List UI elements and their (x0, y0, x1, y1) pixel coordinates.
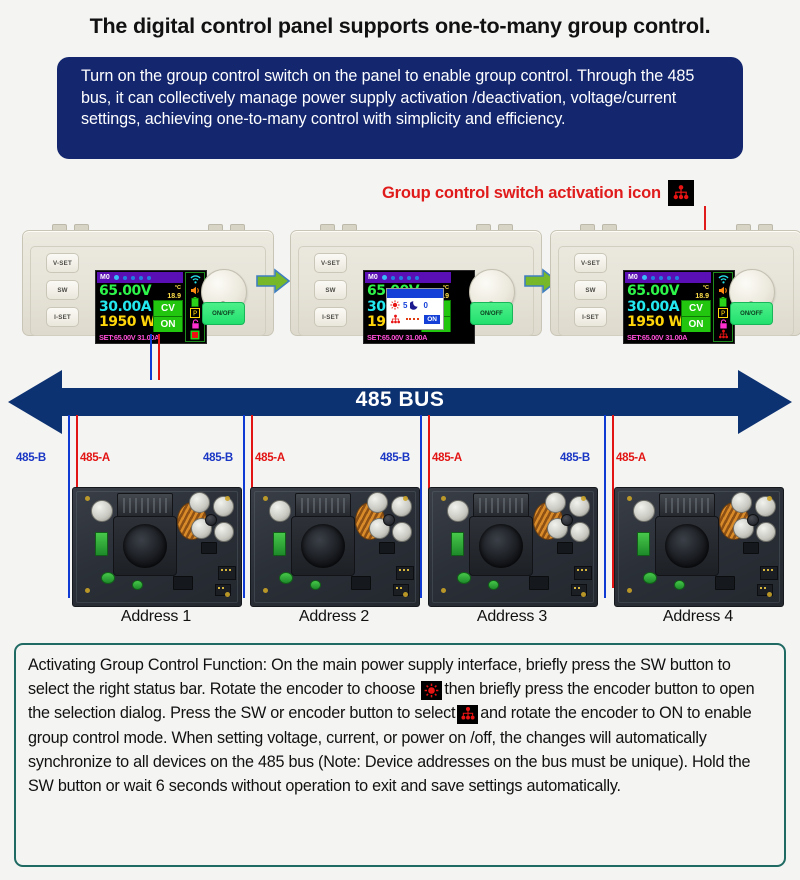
battery-icon (189, 297, 202, 307)
wire-485b-hook3 (420, 488, 422, 598)
flow-arrow-icon (256, 268, 290, 294)
capacitor (755, 496, 776, 517)
lcd-title-bar: M0 (97, 272, 183, 283)
mounting-pad (767, 592, 772, 597)
capacitor (633, 500, 655, 522)
iset-button[interactable]: I-SET (574, 307, 607, 327)
psu-face: V-SET SW I-SET M0 65.00V 30.00A 1950 W (558, 246, 794, 336)
wire-485a-dev1 (76, 415, 78, 490)
power-supply-unit-2: V-SET SW I-SET M0 65.00V 30.00A 1950 W (290, 222, 540, 334)
ic-chip (529, 576, 549, 590)
brightness-value: 5 (403, 301, 407, 310)
lcd-display-2: M0 65.00V 30.00A 1950 W °C 18.9 CV (363, 270, 475, 344)
memory-dot (391, 276, 395, 280)
memory-dot (407, 276, 411, 280)
ic-chip (557, 542, 573, 554)
memory-dot (131, 276, 135, 280)
wire-485b-dev1 (68, 415, 70, 490)
wire-485b-dev2 (243, 415, 245, 490)
mounting-pad (441, 588, 446, 593)
green-component (101, 572, 115, 584)
capacitor (269, 500, 291, 522)
onoff-button[interactable]: ON/OFF (730, 302, 773, 325)
memory-dot (667, 276, 671, 280)
group-tree-icon (390, 314, 401, 325)
capacitor (214, 522, 234, 542)
mounting-pad (225, 496, 230, 501)
setpoint-line: SET:65.00V 31.00A (365, 332, 451, 342)
mounting-pad (225, 592, 230, 597)
group-state-value[interactable]: ON (424, 315, 440, 324)
capacitor (205, 514, 217, 526)
memory-dot (139, 276, 143, 280)
memory-dot (382, 275, 387, 280)
onoff-button[interactable]: ON/OFF (202, 302, 245, 325)
mounting-pad (441, 496, 446, 501)
selection-dialog[interactable]: 5 0 (386, 288, 444, 330)
wire-485a-dev3 (428, 415, 430, 490)
pin-header (218, 566, 236, 580)
iset-button[interactable]: I-SET (314, 307, 347, 327)
setpoint-line: SET:65.00V 31.00A (625, 332, 711, 342)
mounting-pad (581, 496, 586, 501)
green-component (637, 532, 650, 556)
record-square-icon (189, 330, 202, 340)
brightness-icon (421, 681, 442, 700)
capacitor (756, 522, 776, 542)
bus-label: 485 BUS (0, 388, 800, 412)
memory-dot (651, 276, 655, 280)
cooling-fan (113, 516, 177, 576)
pcb-module-3 (428, 487, 598, 607)
ic-chip (715, 576, 735, 590)
psu-face: V-SET SW I-SET M0 65.00V 30.00A 1950 W (298, 246, 534, 336)
green-component (488, 580, 499, 590)
capacitor (213, 496, 234, 517)
capacitor (561, 514, 573, 526)
vset-button[interactable]: V-SET (314, 253, 347, 273)
mounting-pad (627, 496, 632, 501)
green-component (643, 572, 657, 584)
battery-icon (717, 297, 730, 307)
group-tree-icon (457, 705, 478, 724)
memory-dot (147, 276, 151, 280)
temperature-unit: °C (175, 285, 181, 291)
wire-label-485b: 485-B (560, 452, 590, 464)
pcb-module-2 (250, 487, 420, 607)
mounting-pad (403, 496, 408, 501)
instructions-text: Activating Group Control Function: On th… (28, 653, 773, 798)
output-badge: ON (681, 316, 711, 333)
lcd-display-3: M0 65.00V 30.00A 1950 W °C 18.9 CV (623, 270, 735, 344)
sw-button[interactable]: SW (46, 280, 79, 300)
callout-label: Group control switch activation icon (382, 184, 661, 203)
capacitor (570, 522, 590, 542)
capacitor (189, 492, 210, 513)
green-component (132, 580, 143, 590)
temperature-value: 18.9 (167, 293, 181, 300)
device-address-label-2: Address 2 (250, 608, 418, 626)
ic-chip (379, 542, 395, 554)
intro-callout-box: Turn on the group control switch on the … (57, 57, 743, 159)
wire-485b-hook1 (68, 488, 70, 598)
capacitor (545, 492, 566, 513)
mode-badge: CV (681, 300, 711, 317)
protect-p-icon: P (717, 308, 730, 318)
wire-485a-dev4 (612, 415, 614, 490)
sw-button[interactable]: SW (314, 280, 347, 300)
pin-header (760, 566, 778, 580)
wire-label-485a: 485-A (255, 452, 285, 464)
intro-text: Turn on the group control switch on the … (81, 66, 727, 131)
lock-icon (189, 319, 202, 329)
ic-chip (351, 576, 371, 590)
brightness-icon (390, 300, 400, 310)
sw-button[interactable]: SW (574, 280, 607, 300)
mounting-pad (85, 588, 90, 593)
ic-chip (201, 542, 217, 554)
wire-label-485b: 485-B (380, 452, 410, 464)
psu-body: V-SET SW I-SET M0 65.00V 30.00A 1950 W (290, 230, 542, 336)
instructions-box: Activating Group Control Function: On th… (14, 643, 786, 867)
wire-485b-dev3 (420, 415, 422, 490)
pin-header (574, 566, 592, 580)
group-control-callout: Group control switch activation icon (382, 180, 694, 206)
psu-body: V-SET SW I-SET M0 65.00V 30.00A 1950 W (22, 230, 274, 336)
setpoint-line: SET:65.00V 31.00A (97, 332, 183, 342)
group-tree-icon (717, 330, 730, 340)
lcd-model-label: M0 (100, 274, 110, 281)
psu-body: V-SET SW I-SET M0 65.00V 30.00A 1950 W (550, 230, 800, 336)
brightness-row[interactable]: 5 0 (387, 298, 443, 312)
mounting-pad (627, 588, 632, 593)
green-component (95, 532, 108, 556)
wire-label-485b: 485-B (203, 452, 233, 464)
mounting-pad (767, 496, 772, 501)
memory-dot (642, 275, 647, 280)
group-control-row[interactable]: ON (387, 312, 443, 326)
lcd-title-bar: M0 (625, 272, 711, 283)
dialog-dashes (406, 318, 419, 321)
speaker-icon (189, 286, 202, 296)
device-address-label-3: Address 3 (428, 608, 596, 626)
cooling-fan (469, 516, 533, 576)
lcd-model-label: M0 (628, 274, 638, 281)
vset-button[interactable]: V-SET (574, 253, 607, 273)
mounting-pad (263, 588, 268, 593)
pcb-module-4 (614, 487, 784, 607)
cooling-fan (291, 516, 355, 576)
wifi-icon (189, 275, 202, 285)
sleep-value: 0 (423, 301, 427, 310)
capacitor (391, 496, 412, 517)
temperature-readout: °C 18.9 (680, 284, 710, 299)
green-component (457, 572, 471, 584)
svg-text:P: P (721, 309, 725, 317)
device-address-label-1: Address 1 (72, 608, 240, 626)
green-component (451, 532, 464, 556)
memory-dot (675, 276, 679, 280)
wire-485b-dev4 (604, 415, 606, 490)
capacitor (91, 500, 113, 522)
capacitor (569, 496, 590, 517)
green-component (674, 580, 685, 590)
green-component (310, 580, 321, 590)
ic-chip (173, 576, 193, 590)
device-address-label-4: Address 4 (614, 608, 782, 626)
memory-dot (659, 276, 663, 280)
memory-dot (399, 276, 403, 280)
capacitor (392, 522, 412, 542)
memory-dot (114, 275, 119, 280)
wire-label-485a: 485-A (432, 452, 462, 464)
bus-arrow: 485 BUS (0, 362, 800, 442)
capacitor (383, 514, 395, 526)
output-badge: ON (153, 316, 183, 333)
wire-label-485b: 485-B (16, 452, 46, 464)
pcb-module-1 (72, 487, 242, 607)
green-component (273, 532, 286, 556)
wire-485b-hook2 (243, 488, 245, 598)
lcd-display-1: M0 65.00V 30.00A 1950 W °C 18.9 CV (95, 270, 207, 344)
temperature-value: 18.9 (695, 293, 709, 300)
cooling-fan (655, 516, 719, 576)
lcd-model-label: M0 (368, 274, 378, 281)
green-component (279, 572, 293, 584)
page-title: The digital control panel supports one-t… (0, 14, 800, 39)
onoff-button[interactable]: ON/OFF (470, 302, 513, 325)
power-supply-unit-3: V-SET SW I-SET M0 65.00V 30.00A 1950 W (550, 222, 800, 334)
temperature-readout: °C 18.9 (152, 284, 182, 299)
mounting-pad (403, 592, 408, 597)
lcd-title-bar: M0 (365, 272, 451, 283)
sleep-moon-icon (410, 300, 420, 310)
memory-dot (415, 276, 419, 280)
dialog-title-bar (387, 289, 443, 298)
mode-badge: CV (153, 300, 183, 317)
wire-485b-hook4 (604, 488, 606, 598)
group-tree-icon (668, 180, 694, 206)
power-supply-unit-1: V-SET SW I-SET M0 65.00V 30.00A 1950 W (22, 222, 272, 334)
mounting-pad (581, 592, 586, 597)
vset-button[interactable]: V-SET (46, 253, 79, 273)
capacitor (367, 492, 388, 513)
wifi-icon (717, 275, 730, 285)
capacitor (447, 500, 469, 522)
temperature-unit: °C (703, 285, 709, 291)
wire-485a-dev2 (251, 415, 253, 490)
psu-face: V-SET SW I-SET M0 65.00V 30.00A 1950 W (30, 246, 266, 336)
pin-header (396, 566, 414, 580)
svg-text:P: P (193, 309, 197, 317)
lock-icon (717, 319, 730, 329)
wire-label-485a: 485-A (616, 452, 646, 464)
iset-button[interactable]: I-SET (46, 307, 79, 327)
speaker-icon (717, 286, 730, 296)
mounting-pad (85, 496, 90, 501)
protect-p-icon: P (189, 308, 202, 318)
capacitor (731, 492, 752, 513)
capacitor (747, 514, 759, 526)
mounting-pad (263, 496, 268, 501)
ic-chip (743, 542, 759, 554)
memory-dot (123, 276, 127, 280)
wire-label-485a: 485-A (80, 452, 110, 464)
